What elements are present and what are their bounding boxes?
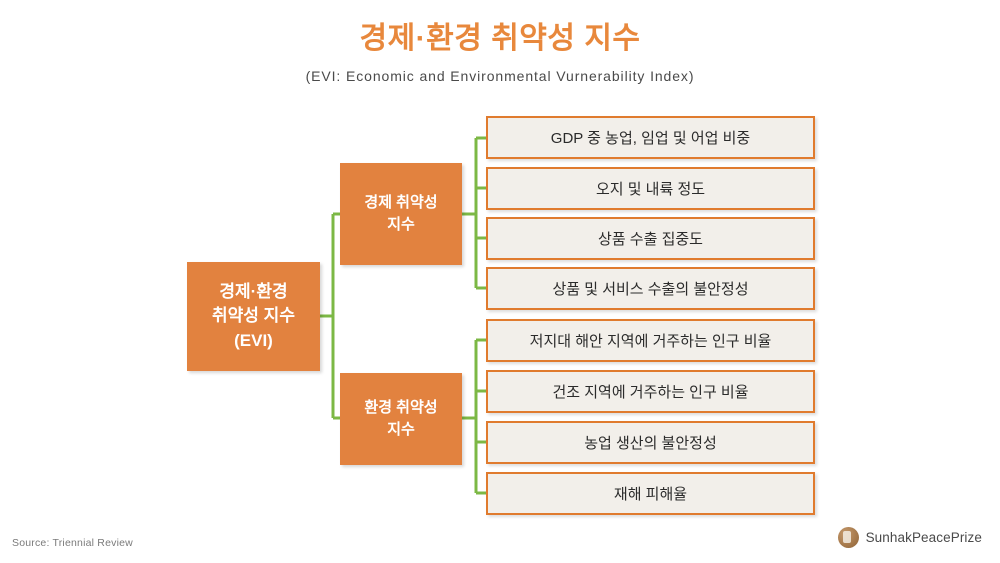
leaf-label: 건조 지역에 거주하는 인구 비율 — [552, 381, 748, 402]
leaf-environmental-2[interactable]: 건조 지역에 거주하는 인구 비율 — [486, 370, 815, 413]
brand-logo: SunhakPeacePrize — [838, 527, 982, 548]
node-root-evi[interactable]: 경제·환경 취약성 지수 (EVI) — [187, 262, 320, 371]
leaf-economic-4[interactable]: 상품 및 서비스 수출의 불안정성 — [486, 267, 815, 310]
leaf-environmental-3[interactable]: 농업 생산의 불안정성 — [486, 421, 815, 464]
evi-tree-diagram: 경제·환경 취약성 지수 (EVI) 경제 취약성 지수 환경 취약성 지수 G… — [0, 0, 1000, 563]
leaf-economic-3[interactable]: 상품 수출 집중도 — [486, 217, 815, 260]
leaf-label: GDP 중 농업, 임업 및 어업 비중 — [551, 127, 750, 148]
leaf-environmental-1[interactable]: 저지대 해안 지역에 거주하는 인구 비율 — [486, 319, 815, 362]
node-root-label: 경제·환경 취약성 지수 (EVI) — [212, 280, 295, 354]
leaf-label: 상품 및 서비스 수출의 불안정성 — [552, 278, 748, 299]
leaf-economic-1[interactable]: GDP 중 농업, 임업 및 어업 비중 — [486, 116, 815, 159]
leaf-label: 저지대 해안 지역에 거주하는 인구 비율 — [530, 330, 772, 351]
leaf-label: 재해 피해율 — [614, 483, 687, 504]
leaf-label: 오지 및 내륙 정도 — [596, 178, 705, 199]
leaf-economic-2[interactable]: 오지 및 내륙 정도 — [486, 167, 815, 210]
node-branch-economic-label: 경제 취약성 지수 — [364, 192, 437, 236]
node-branch-economic[interactable]: 경제 취약성 지수 — [340, 163, 462, 265]
node-branch-environmental[interactable]: 환경 취약성 지수 — [340, 373, 462, 465]
node-branch-environmental-label: 환경 취약성 지수 — [364, 397, 437, 441]
leaf-environmental-4[interactable]: 재해 피해율 — [486, 472, 815, 515]
brand-name: SunhakPeacePrize — [866, 530, 982, 545]
leaf-label: 상품 수출 집중도 — [598, 228, 703, 249]
leaf-label: 농업 생산의 불안정성 — [584, 432, 717, 453]
source-note: Source: Triennial Review — [12, 537, 133, 549]
sunhak-emblem-icon — [838, 527, 859, 548]
